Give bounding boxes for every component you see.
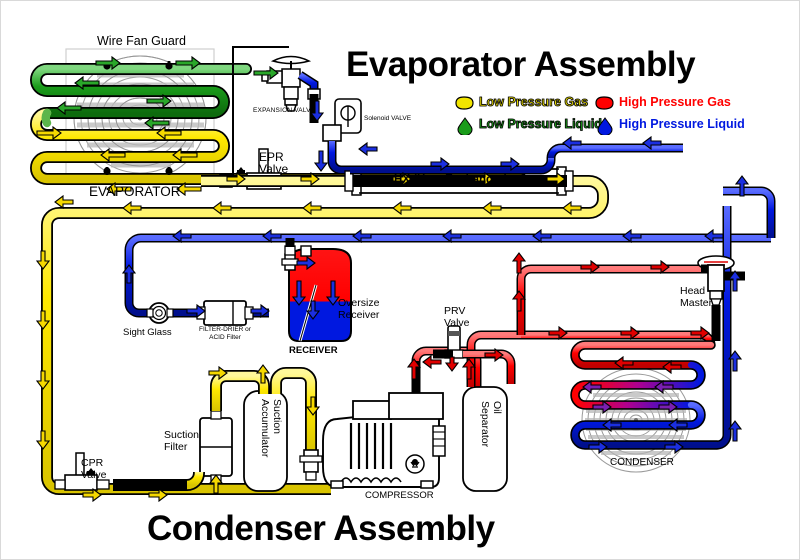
- label-solenoid-valve: Solenoid VALVE: [364, 115, 411, 122]
- label-oversize-receiver: Oversize Receiver: [338, 297, 379, 321]
- gas-blob-icon: [453, 95, 475, 111]
- label-suction-filter: Suction Filter: [164, 429, 199, 453]
- legend-label-high-pressure-liquid: High Pressure Liquid: [619, 117, 745, 131]
- label-head-master: Head Master: [680, 285, 712, 309]
- label-oil-separator: Oil Separator: [479, 401, 503, 447]
- label-epr-valve: EPR Valve: [259, 151, 288, 175]
- receiver-valve-top: [301, 246, 311, 256]
- solenoid-valve: [323, 99, 361, 141]
- label-receiver: RECEIVER: [289, 345, 338, 356]
- label-compressor: COMPRESSOR: [365, 490, 434, 501]
- droplet-icon: [597, 117, 613, 135]
- filter-drier: [197, 301, 253, 325]
- legend-label-low-pressure-gas: Low Pressure Gas: [479, 95, 588, 109]
- droplet-icon: [457, 117, 473, 135]
- label-prv-valve: PRV Valve: [444, 305, 470, 329]
- receiver-tank: [282, 246, 351, 341]
- legend-label-high-pressure-gas: High Pressure Gas: [619, 95, 731, 109]
- label-wire-fan-guard: Wire Fan Guard: [97, 34, 186, 48]
- gas-blob-icon: [593, 95, 615, 111]
- page-title-evaporator: Evaporator Assembly: [346, 45, 695, 85]
- legend-label-low-pressure-liquid: Low Pressure Liquid: [479, 117, 602, 131]
- page-title-condenser: Condenser Assembly: [147, 509, 495, 549]
- label-sight-glass: Sight Glass: [123, 327, 172, 338]
- refrigeration-system-diagram: Evaporator Assembly Condenser Assembly L…: [0, 0, 800, 560]
- label-condenser: CONDENSER: [610, 457, 674, 468]
- label-evaporator: EVAPORATOR: [89, 184, 181, 199]
- label-expansion-valve: EXPANSION VALVE: [253, 107, 315, 114]
- label-cpr-valve: CPR Valve: [81, 457, 107, 481]
- label-heat-exchanger: HX (Heat Exchanger): [394, 174, 508, 186]
- compressor: [323, 393, 445, 488]
- label-suction-accumulator: Suction Accumulator: [259, 399, 283, 457]
- compressor-suction-service-valve: [300, 450, 322, 480]
- label-filter-drier: FILTER-DRIER or ACID Filter: [194, 326, 256, 342]
- liquid-line-over-hx: [350, 148, 683, 170]
- sight-glass: [147, 303, 173, 323]
